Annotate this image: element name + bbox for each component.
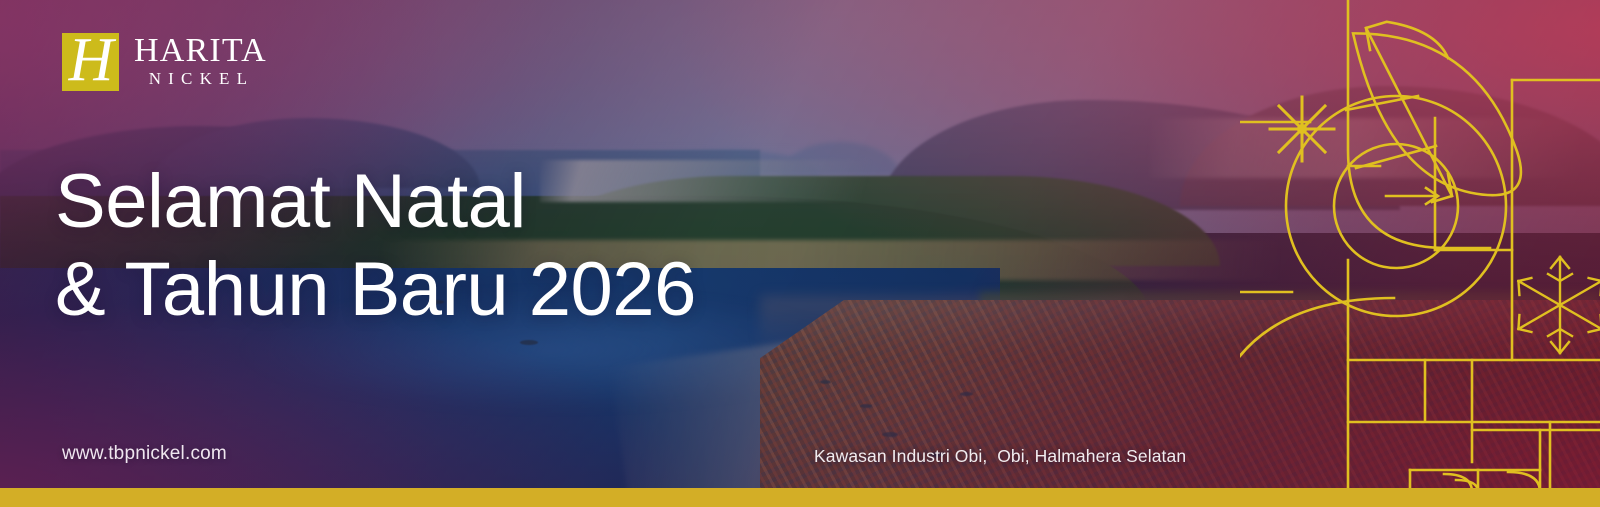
headline-line-2: & Tahun Baru 2026: [55, 246, 915, 334]
logo-gold-square: H: [62, 33, 119, 91]
headline-line-1: Selamat Natal: [55, 159, 526, 244]
logo-brand-subtitle: NICKEL: [136, 68, 267, 90]
snowflake-icon: [1518, 257, 1600, 353]
harita-nickel-logo[interactable]: H HARITA NICKEL: [62, 33, 267, 95]
logo-monogram-h: H: [50, 30, 132, 94]
gold-line-art-decoration: [1240, 0, 1600, 492]
logo-wordmark: HARITA NICKEL: [134, 33, 267, 90]
bottom-gold-bar: [0, 488, 1600, 507]
greeting-headline: Selamat Natal & Tahun Baru 2026: [55, 158, 915, 334]
eight-point-star-icon: [1270, 97, 1334, 161]
website-url[interactable]: www.tbpnickel.com: [62, 443, 227, 465]
logo-brand-name: HARITA: [134, 34, 267, 68]
harita-nickel-greeting-banner: H HARITA NICKEL Selamat Natal & Tahun Ba…: [0, 0, 1600, 507]
location-caption: Kawasan Industri Obi, Obi, Halmahera Sel…: [814, 446, 1186, 467]
